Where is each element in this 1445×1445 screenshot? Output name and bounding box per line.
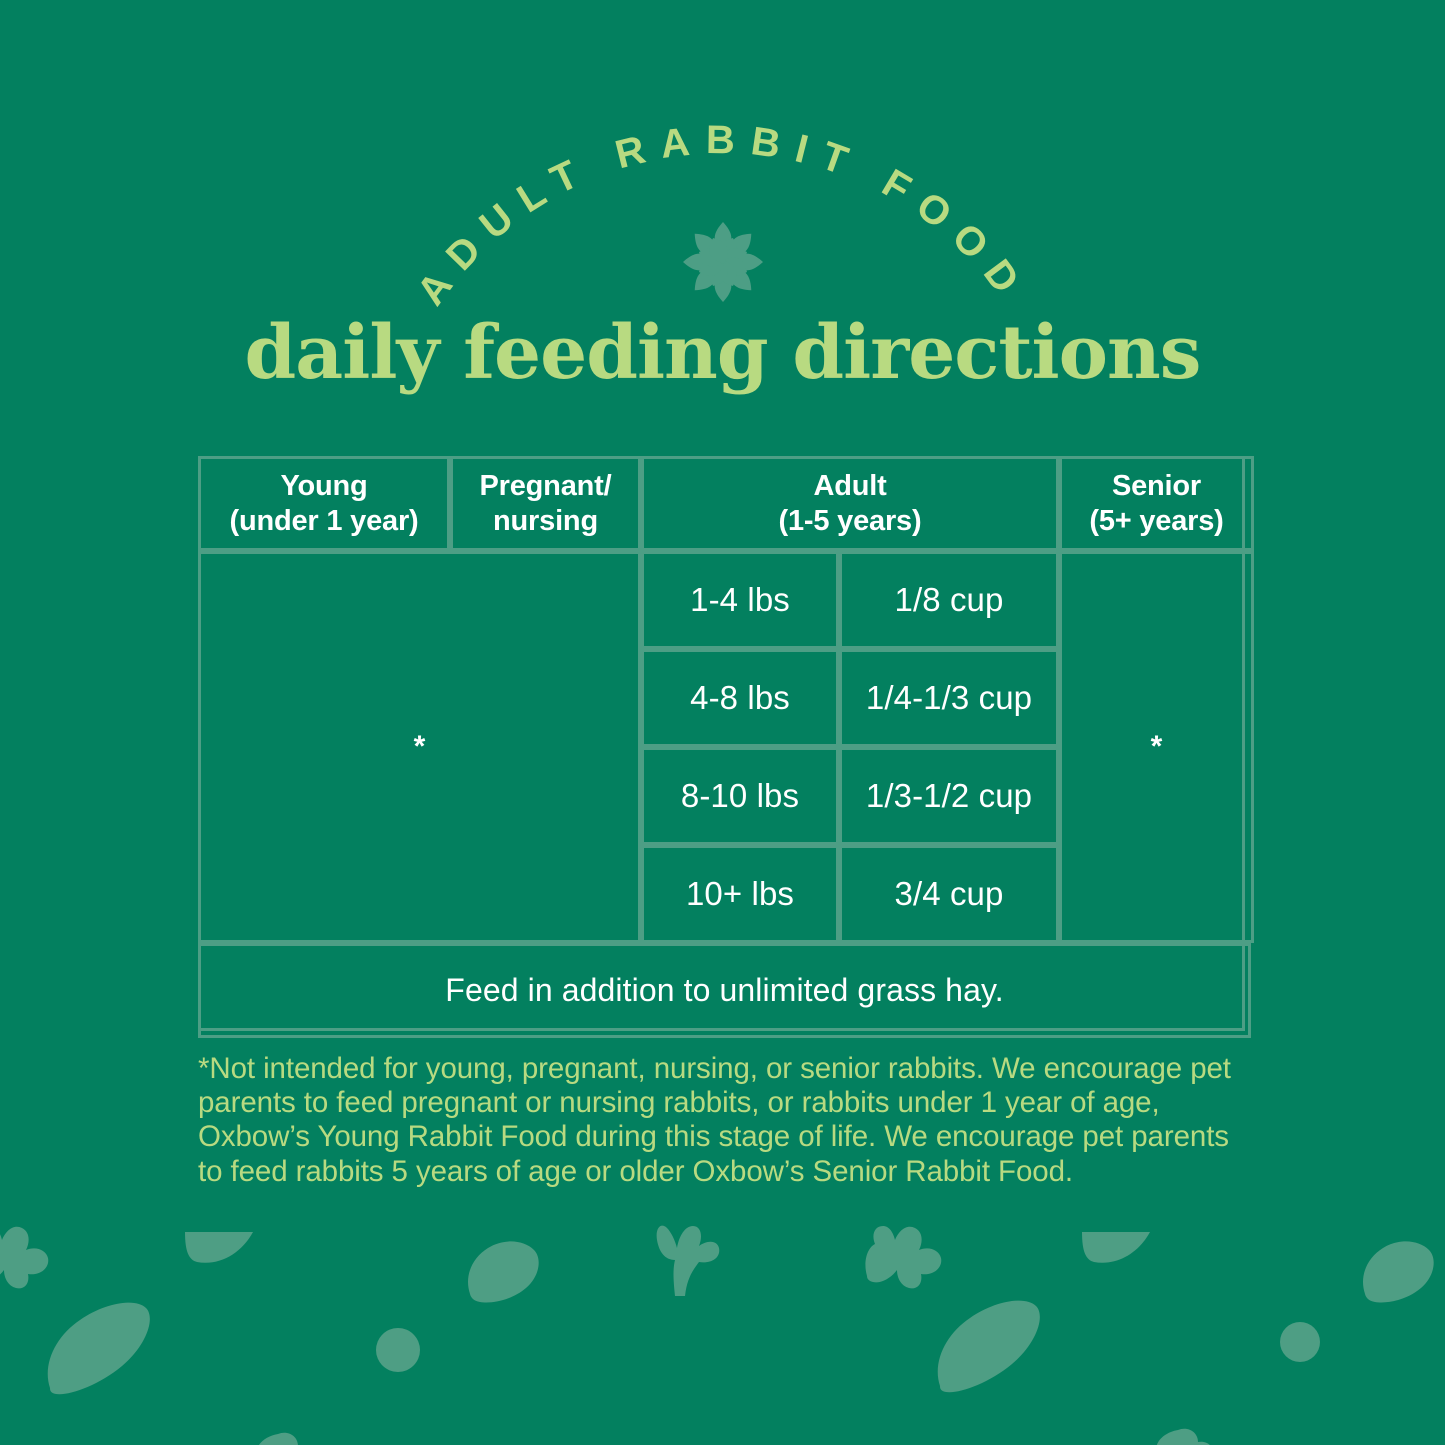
adult-weight-3: 10+ lbs	[686, 875, 794, 913]
feeding-table: Young (under 1 year) Pregnant/ nursing A…	[198, 456, 1245, 1031]
adult-amount-1: 1/4-1/3 cup	[866, 679, 1032, 717]
adult-amount-cell: 1/8 cup	[839, 551, 1059, 649]
table-header-young: Young (under 1 year)	[198, 456, 450, 551]
adult-amount-0: 1/8 cup	[895, 581, 1004, 619]
footnote-text: *Not intended for young, pregnant, nursi…	[198, 1052, 1250, 1189]
adult-weight-cell: 8-10 lbs	[641, 747, 839, 845]
adult-weight-cell: 10+ lbs	[641, 845, 839, 943]
pattern-svg	[0, 1222, 1445, 1445]
adult-amount-cell: 3/4 cup	[839, 845, 1059, 943]
header-senior-line2: (5+ years)	[1089, 504, 1223, 538]
adult-weight-2: 8-10 lbs	[681, 777, 799, 815]
senior-value-cell: *	[1059, 551, 1254, 943]
header-young-line1: Young	[280, 469, 367, 503]
feeding-directions-panel: ADULT RABBIT FOOD	[0, 0, 1445, 1445]
adult-amount-2: 1/3-1/2 cup	[866, 777, 1032, 815]
adult-weight-cell: 4-8 lbs	[641, 649, 839, 747]
decorative-pattern-band	[0, 1222, 1445, 1445]
table-footer-text: Feed in addition to unlimited grass hay.	[445, 972, 1003, 1009]
adult-amount-cell: 1/3-1/2 cup	[839, 747, 1059, 845]
table-footer-row: Feed in addition to unlimited grass hay.	[198, 943, 1251, 1038]
header-senior-line1: Senior	[1112, 469, 1201, 503]
flower-rosette-icon	[673, 218, 773, 306]
table-header-adult: Adult (1-5 years)	[641, 456, 1059, 551]
senior-asterisk: *	[1151, 730, 1163, 764]
adult-amount-cell: 1/4-1/3 cup	[839, 649, 1059, 747]
adult-weight-1: 4-8 lbs	[690, 679, 790, 717]
header-pregnant-line1: Pregnant/	[480, 469, 612, 503]
young-pregnant-value-cell: *	[198, 551, 641, 943]
header-young-line2: (under 1 year)	[230, 504, 419, 538]
adult-weight-0: 1-4 lbs	[690, 581, 790, 619]
header-adult-line1: Adult	[813, 469, 886, 503]
adult-amount-3: 3/4 cup	[895, 875, 1004, 913]
young-pregnant-asterisk: *	[414, 730, 426, 764]
adult-weight-cell: 1-4 lbs	[641, 551, 839, 649]
table-header-senior: Senior (5+ years)	[1059, 456, 1254, 551]
header-pregnant-line2: nursing	[493, 504, 598, 538]
header-adult-line2: (1-5 years)	[779, 504, 922, 538]
page-title: daily feeding directions	[0, 316, 1445, 390]
table-header-pregnant: Pregnant/ nursing	[450, 456, 641, 551]
